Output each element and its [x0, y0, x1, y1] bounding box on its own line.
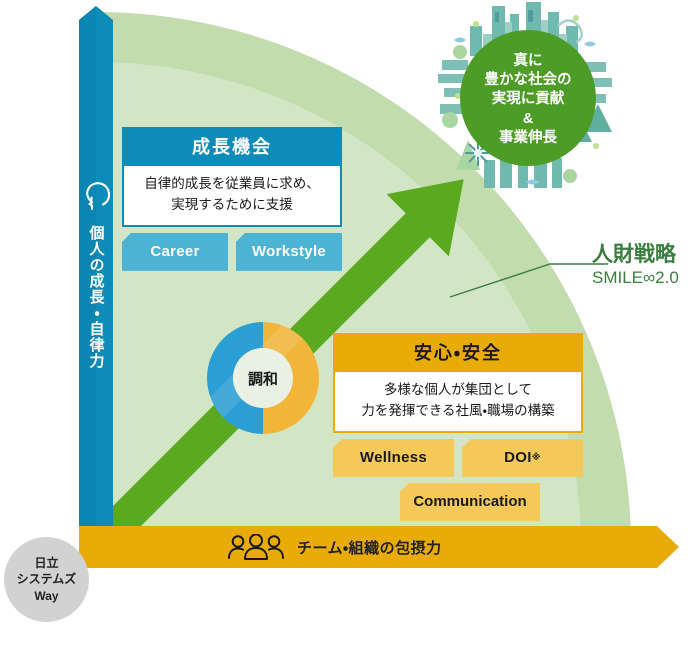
- strategy-subtitle: SMILE∞2.0: [592, 268, 700, 288]
- safety-panel-body: 多様な個人が集団として 力を発揮できる社風・職場の構築: [333, 372, 583, 433]
- safety-panel-header: 安心・安全: [333, 333, 583, 372]
- strategy-title: 人財戦略: [592, 243, 700, 266]
- safety-panel: 安心・安全 多様な個人が集団として 力を発揮できる社風・職場の構築 Wellne…: [333, 333, 583, 521]
- tag-doi-label: DOI: [504, 449, 532, 466]
- growth-body-line-2: 実現するために支援: [130, 195, 334, 216]
- growth-panel-header: 成長機会: [122, 127, 342, 166]
- harmony-donut-chart: [203, 318, 323, 438]
- way-line-3: Way: [17, 588, 77, 604]
- person-head-icon: [80, 178, 112, 218]
- growth-panel-body: 自律的成長を従業員に求め、 実現するために支援: [122, 166, 342, 227]
- safety-body-line-2: 力を発揮できる社風・職場の構築: [341, 401, 575, 422]
- tag-doi-note: ※: [532, 452, 541, 463]
- growth-opportunity-panel: 成長機会 自律的成長を従業員に求め、 実現するために支援 Career Work…: [122, 127, 342, 271]
- growth-tag-row: Career Workstyle: [122, 233, 342, 271]
- tag-communication[interactable]: Communication: [400, 483, 540, 521]
- horizontal-axis-content: チーム・組織の包摂力: [79, 526, 679, 568]
- three-people-icon: [227, 534, 285, 560]
- tag-wellness[interactable]: Wellness: [333, 439, 454, 477]
- hitachi-systems-way-badge: 日立 システムズ Way: [4, 537, 89, 622]
- safety-tag-row: Wellness DOI※: [333, 439, 583, 477]
- strategy-diagram: 個人の成長・自律力 チーム・組織の包摂力 日立 システムズ Way: [0, 0, 700, 650]
- strategy-leader-line: [440, 250, 610, 300]
- way-line-1: 日立: [17, 555, 77, 571]
- growth-body-line-1: 自律的成長を従業員に求め、: [130, 174, 334, 195]
- safety-body-line-1: 多様な個人が集団として: [341, 380, 575, 401]
- strategy-label: 人財戦略 SMILE∞2.0: [592, 243, 700, 288]
- horizontal-axis-label: チーム・組織の包摂力: [297, 537, 442, 558]
- tag-career[interactable]: Career: [122, 233, 228, 271]
- communication-tag-row: Communication: [333, 483, 583, 521]
- globe-green-circle: [460, 30, 596, 166]
- tag-workstyle[interactable]: Workstyle: [236, 233, 342, 271]
- vertical-axis-bar: [79, 6, 113, 546]
- tag-doi[interactable]: DOI※: [462, 439, 583, 477]
- way-line-2: システムズ: [17, 571, 77, 587]
- global-society-illustration: [430, 0, 620, 195]
